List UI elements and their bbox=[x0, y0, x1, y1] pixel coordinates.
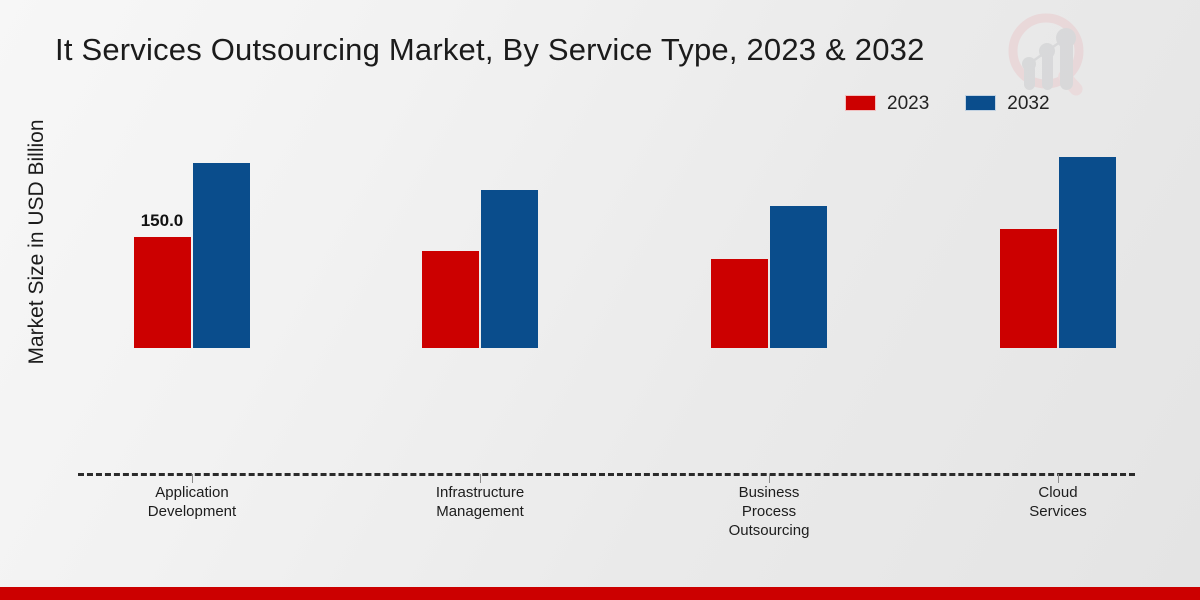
bar-2032-cloud-services[interactable] bbox=[1059, 157, 1116, 348]
x-tick-4 bbox=[1058, 474, 1059, 483]
bar-group-business-process-outsourcing bbox=[711, 0, 827, 474]
bar-2023-infrastructure-management[interactable] bbox=[422, 251, 479, 348]
bar-2023-application-development[interactable]: 150.0 bbox=[134, 237, 191, 348]
x-label-business-process-outsourcing: Business Process Outsourcing bbox=[654, 483, 884, 540]
bar-2023-business-process-outsourcing[interactable] bbox=[711, 259, 768, 348]
bottom-accent-strip bbox=[0, 587, 1200, 600]
bar-2023-cloud-services[interactable] bbox=[1000, 229, 1057, 348]
x-tick-3 bbox=[769, 474, 770, 483]
bar-group-infrastructure-management bbox=[422, 0, 538, 474]
bar-2032-business-process-outsourcing[interactable] bbox=[770, 206, 827, 348]
x-label-cloud-services: Cloud Services bbox=[943, 483, 1173, 521]
x-label-infrastructure-management: Infrastructure Management bbox=[365, 483, 595, 521]
plot-area: 150.0 Application Development Infrastruc… bbox=[0, 0, 1200, 600]
bar-2032-application-development[interactable] bbox=[193, 163, 250, 348]
chart-container: It Services Outsourcing Market, By Servi… bbox=[0, 0, 1200, 600]
bar-2032-infrastructure-management[interactable] bbox=[481, 190, 538, 348]
x-tick-1 bbox=[192, 474, 193, 483]
bar-group-cloud-services bbox=[1000, 0, 1116, 474]
x-tick-2 bbox=[480, 474, 481, 483]
bar-group-application-development: 150.0 bbox=[134, 0, 250, 474]
x-label-application-development: Application Development bbox=[77, 483, 307, 521]
